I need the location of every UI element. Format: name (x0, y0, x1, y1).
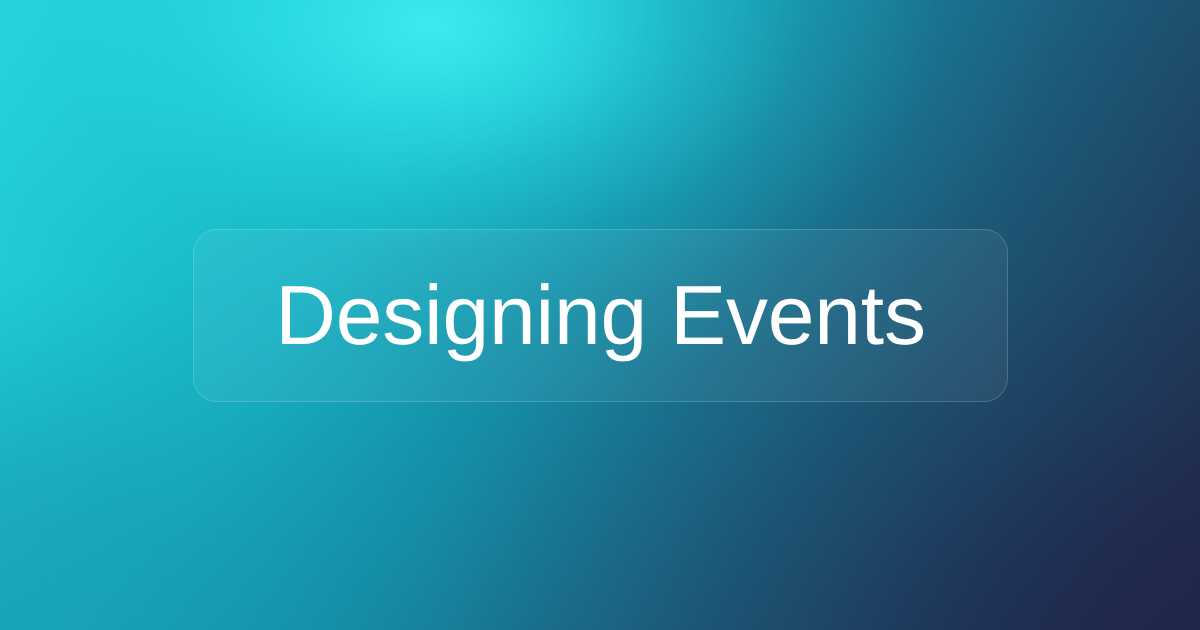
share-card-canvas: Designing Events (0, 0, 1200, 630)
page-title: Designing Events (275, 273, 926, 359)
title-card: Designing Events (193, 229, 1008, 402)
